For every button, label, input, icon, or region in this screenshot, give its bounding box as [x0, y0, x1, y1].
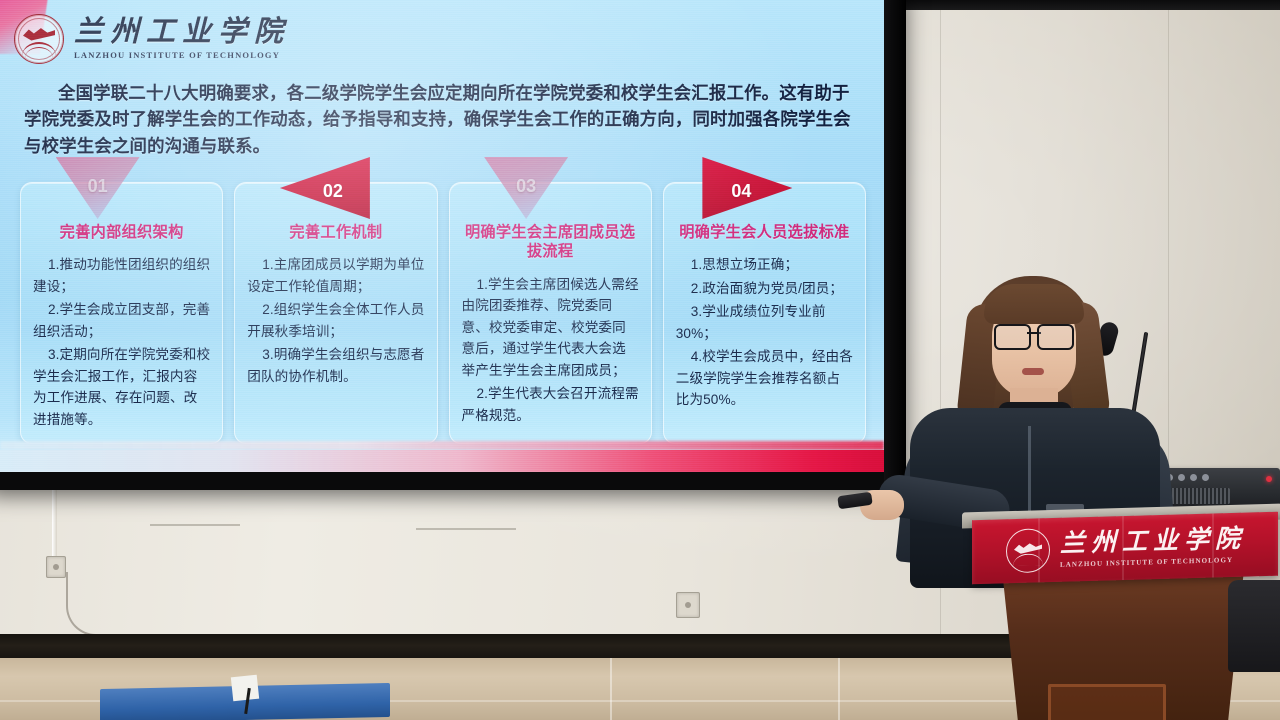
card-item: 3.定期向所在学院党委和校学生会汇报工作，汇报内容为工作进展、存在问题、改进措施…	[33, 344, 210, 430]
wall-socket	[676, 592, 700, 618]
card-body-02: 1.主席团成员以学期为单位设定工作轮值周期； 2.组织学生会全体工作人员开展秋季…	[247, 254, 424, 387]
slide-card-01: 01 完善内部组织架构 1.推动功能性团组织的组织建设； 2.学生会成立团支部，…	[20, 182, 223, 444]
slide-bottom-glow	[0, 441, 884, 450]
card-item: 3.明确学生会组织与志愿者团队的协作机制。	[247, 344, 424, 387]
slide-card-04: 04 明确学生会人员选拔标准 1.思想立场正确； 2.政治面貌为党员/团员； 3…	[663, 182, 866, 444]
card-item: 2.组织学生会全体工作人员开展秋季培训；	[247, 299, 424, 342]
presentation-slide: 兰州工业学院 LANZHOU INSTITUTE OF TECHNOLOGY 全…	[0, 0, 884, 472]
card-item: 1.推动功能性团组织的组织建设；	[33, 254, 210, 297]
card-body-03: 1.学生会主席团候选人需经由院团委推荐、院党委同意、校党委审定、校党委同意后，通…	[462, 274, 639, 426]
card-title-03: 明确学生会主席团成员选拔流程	[462, 223, 639, 262]
card-number-01: 01	[88, 176, 108, 197]
paper-sheet	[231, 675, 259, 702]
banner-seal-icon	[1006, 528, 1050, 573]
slide-card-03: 03 明确学生会主席团成员选拔流程 1.学生会主席团候选人需经由院团委推荐、院党…	[449, 182, 652, 444]
card-body-01: 1.推动功能性团组织的组织建设； 2.学生会成立团支部，完善组织活动； 3.定期…	[33, 254, 210, 430]
slide-card-02: 02 完善工作机制 1.主席团成员以学期为单位设定工作轮值周期； 2.组织学生会…	[234, 182, 437, 444]
card-number-badge-02: 02	[280, 157, 370, 219]
lecture-room-scene: 兰州工业学院 LANZHOU INSTITUTE OF TECHNOLOGY 全…	[0, 0, 1280, 720]
lectern-banner: 兰州工业学院 LANZHOU INSTITUTE OF TECHNOLOGY	[972, 512, 1278, 585]
slide-card-row: 01 完善内部组织架构 1.推动功能性团组织的组织建设； 2.学生会成立团支部，…	[20, 182, 866, 444]
floor-tile-line	[610, 658, 612, 720]
card-item: 2.学生代表大会召开流程需严格规范。	[462, 383, 639, 426]
university-seal-icon	[14, 14, 64, 64]
card-number-badge-01: 01	[56, 157, 140, 219]
wall-rail	[416, 528, 516, 530]
university-name-cn: 兰州工业学院	[74, 18, 290, 47]
card-item: 1.主席团成员以学期为单位设定工作轮值周期；	[247, 254, 424, 297]
card-item: 1.思想立场正确；	[676, 254, 853, 275]
card-item: 1.学生会主席团候选人需经由院团委推荐、院党委同意、校党委审定、校党委同意后，通…	[462, 274, 639, 381]
wall-socket	[46, 556, 66, 578]
banner-name-en: LANZHOU INSTITUTE OF TECHNOLOGY	[1060, 556, 1246, 568]
card-number-04: 04	[731, 181, 751, 202]
card-item: 2.学生会成立团支部，完善组织活动；	[33, 299, 210, 342]
floor-tile-line	[838, 658, 840, 720]
card-number-02: 02	[323, 181, 343, 202]
slide-intro-paragraph: 全国学联二十八大明确要求，各二级学院学生会应定期向所在学院党委和校学生会汇报工作…	[24, 80, 860, 159]
card-number-badge-04: 04	[702, 157, 792, 219]
card-body-04: 1.思想立场正确； 2.政治面貌为党员/团员； 3.学业成绩位列专业前30%； …	[676, 254, 853, 410]
chair	[1228, 580, 1280, 672]
card-title-04: 明确学生会人员选拔标准	[676, 223, 853, 242]
university-logo: 兰州工业学院 LANZHOU INSTITUTE OF TECHNOLOGY	[14, 14, 290, 64]
card-item: 4.校学生会成员中，经由各二级学院学生会推荐名额占比为50%。	[676, 346, 853, 410]
card-number-badge-03: 03	[484, 157, 568, 219]
card-item: 2.政治面貌为党员/团员；	[676, 278, 853, 299]
mixer-power-led	[1266, 476, 1272, 482]
banner-name-cn: 兰州工业学院	[1060, 526, 1246, 556]
card-title-02: 完善工作机制	[247, 223, 424, 242]
card-title-01: 完善内部组织架构	[33, 223, 210, 242]
glasses-icon	[994, 324, 1074, 346]
university-name-en: LANZHOU INSTITUTE OF TECHNOLOGY	[74, 51, 290, 60]
card-item: 3.学业成绩位列专业前30%；	[676, 301, 853, 344]
card-number-03: 03	[516, 176, 536, 197]
wall-rail	[150, 524, 240, 526]
slide-bottom-bar	[0, 450, 884, 472]
